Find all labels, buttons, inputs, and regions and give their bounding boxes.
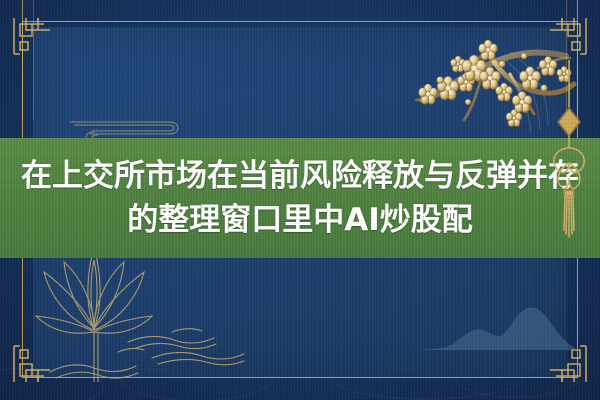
band-gold-rule [577,0,578,120]
chinese-knot-tassel-lower-icon [546,138,592,258]
article-banner: 在上交所市场在当前风险释放与反弹并存的整理窗口里中AI炒股配 [0,0,600,400]
band-gold-rule [33,0,34,120]
title-band: 在上交所市场在当前风险释放与反弹并存的整理窗口里中AI炒股配 [0,138,600,258]
mountain-silhouette-icon [420,290,580,350]
band-gold-rule [566,0,567,120]
band-gold-rule [22,0,23,120]
page-title: 在上交所市场在当前风险释放与反弹并存的整理窗口里中AI炒股配 [10,154,590,242]
